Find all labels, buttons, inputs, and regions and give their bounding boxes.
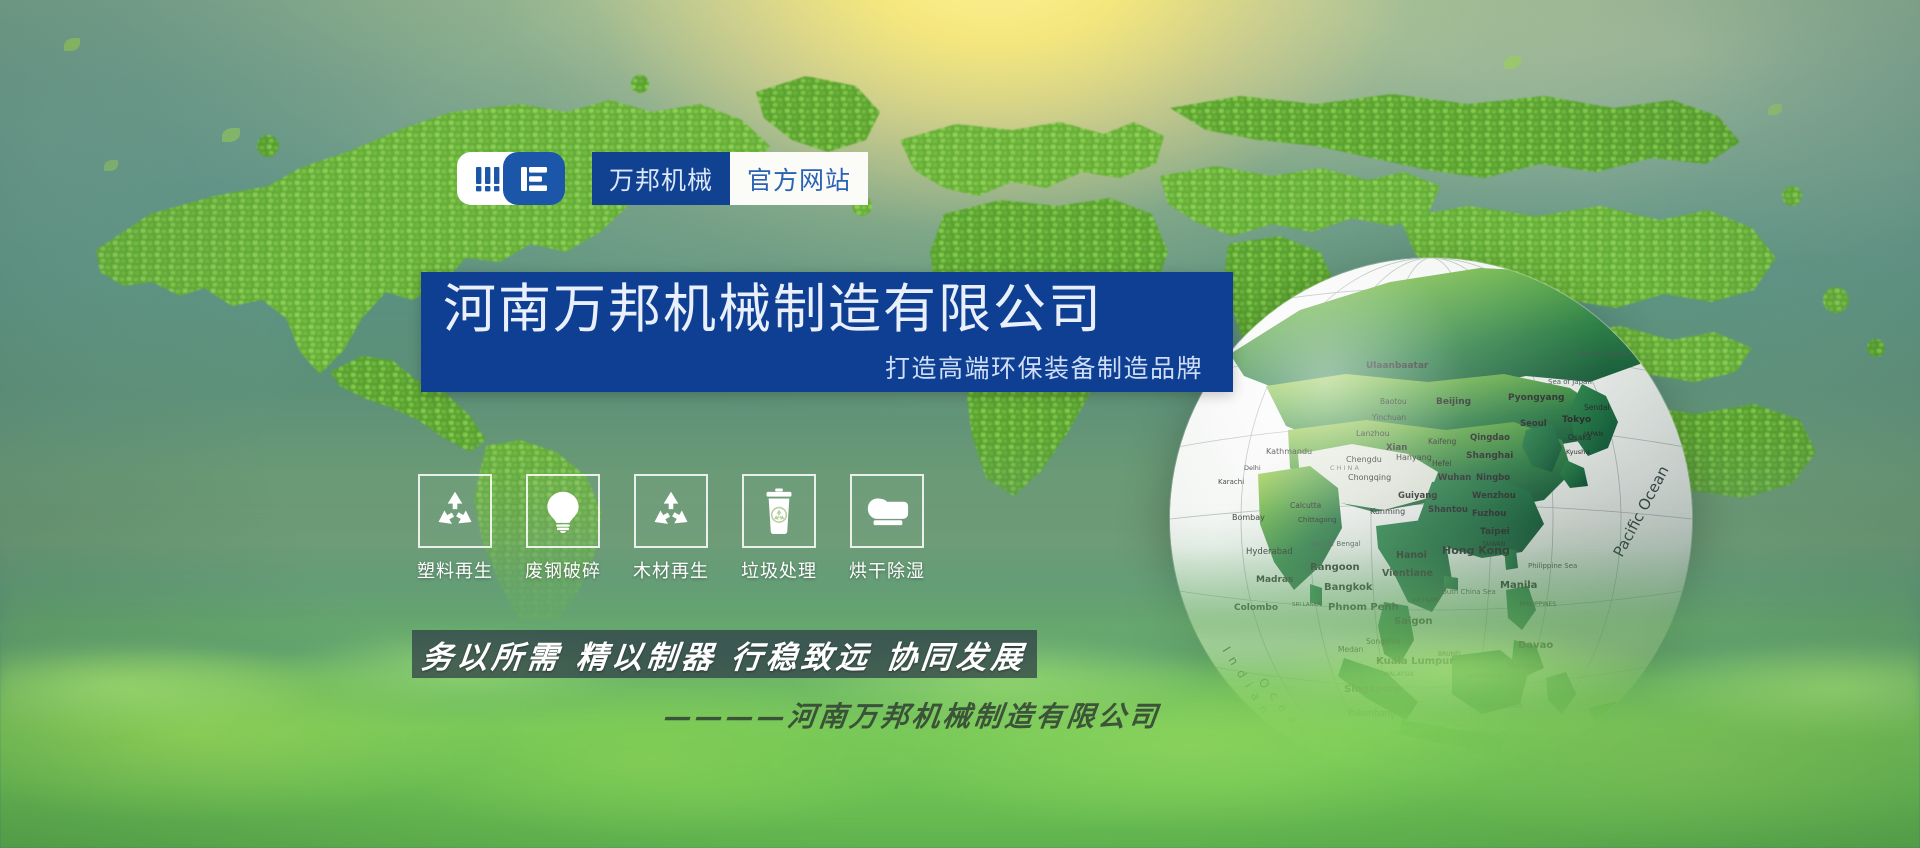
globe-sea-label: Sea of Okhotsk [1578, 350, 1632, 358]
feature-label: 废钢破碎 [525, 557, 601, 583]
globe-label: Delhi [1244, 464, 1261, 472]
globe-label: Baotou [1380, 397, 1407, 406]
globe-label: Kunming [1370, 507, 1405, 516]
feature-label: 烘干除湿 [849, 557, 925, 583]
globe-label: Shanghai [1466, 451, 1513, 461]
feature-icon-box [742, 474, 816, 548]
globe-label: Ulaanbaatar [1366, 361, 1429, 371]
feature-icon-box [850, 474, 924, 548]
feature-item-scrap-steel-crushing[interactable]: 废钢破碎 [526, 474, 600, 583]
trash-bin-icon [762, 488, 796, 534]
feature-icon-box [526, 474, 600, 548]
globe-label: Sendai [1584, 403, 1610, 412]
feature-icon-box [418, 474, 492, 548]
globe-label: Ningbo [1476, 473, 1510, 483]
globe-label: Kaifeng [1428, 437, 1456, 446]
feature-item-plastic-recycling[interactable]: 塑料再生 [418, 474, 492, 583]
globe-label: C H I N A [1330, 464, 1359, 472]
slogan-banner: 务以所需 精以制器 行稳致远 协同发展 [412, 630, 1037, 678]
globe-label: Yinchuan [1371, 413, 1406, 422]
feature-label: 垃圾处理 [741, 557, 817, 583]
globe-label: Chongqing [1348, 473, 1391, 482]
globe-label: Pyongyang [1508, 393, 1564, 403]
globe-label: Seoul [1520, 419, 1547, 429]
globe-label: Hanyang [1396, 453, 1432, 462]
globe-label: Guiyang [1398, 491, 1437, 501]
globe-label: Xian [1386, 443, 1407, 453]
globe-label: Shantou [1428, 505, 1468, 515]
dryer-icon [864, 494, 910, 528]
feature-label: 塑料再生 [417, 557, 493, 583]
hero-tagline: 打造高端环保装备制造品牌 [443, 349, 1203, 385]
hero-title-block: 河南万邦机械制造有限公司 打造高端环保装备制造品牌 [421, 272, 1233, 392]
nav-tab-official[interactable]: 官方网站 [730, 152, 868, 205]
feature-label: 木材再生 [633, 557, 709, 583]
page-title: 河南万邦机械制造有限公司 [443, 283, 1203, 337]
globe-label: Qingdao [1470, 433, 1510, 443]
hero-banner: Ulaanbaatar Beijing Baotou Yinchuan Pyon… [0, 0, 1920, 848]
globe-label: Chengdu [1346, 455, 1382, 464]
globe-label: Lanzhou [1356, 429, 1390, 438]
feature-item-waste-treatment[interactable]: 垃圾处理 [742, 474, 816, 583]
lightbulb-icon [543, 489, 583, 533]
globe-label: Beijing [1436, 397, 1471, 407]
slogan-attribution: ————河南万邦机械制造有限公司 [662, 695, 1163, 735]
feature-item-wood-recycling[interactable]: 木材再生 [634, 474, 708, 583]
slogan-text: 务以所需 精以制器 行稳致远 协同发展 [420, 632, 1029, 677]
site-logo[interactable] [457, 152, 569, 205]
globe-label: Kyushu [1566, 448, 1589, 456]
recycle-icon [649, 489, 693, 533]
feature-item-drying-dehumidifying[interactable]: 烘干除湿 [850, 474, 924, 583]
globe-label: Tokyo [1562, 415, 1591, 425]
globe-label: Hefei [1432, 459, 1452, 468]
feature-icon-row: 塑料再生 废钢破碎 [418, 474, 924, 583]
globe-label: Karachi [1218, 478, 1244, 486]
site-navbar: 万邦机械 官方网站 [457, 152, 868, 205]
nav-tab-official-label: 官方网站 [747, 161, 851, 197]
globe-sea-label: Sea of Japan [1548, 378, 1592, 386]
feature-icon-box [634, 474, 708, 548]
recycle-icon [433, 489, 477, 533]
globe-label: Wuhan [1438, 473, 1471, 483]
globe-label: Kathmandu [1266, 447, 1312, 456]
globe-label: Wenzhou [1472, 491, 1516, 501]
globe-label: Calcutta [1290, 501, 1321, 510]
nav-tab-brand-label: 万邦机械 [609, 161, 713, 197]
nav-tab-brand[interactable]: 万邦机械 [592, 152, 730, 205]
globe-label: JAPAN [1583, 430, 1603, 438]
logo-b-icon [503, 152, 565, 205]
